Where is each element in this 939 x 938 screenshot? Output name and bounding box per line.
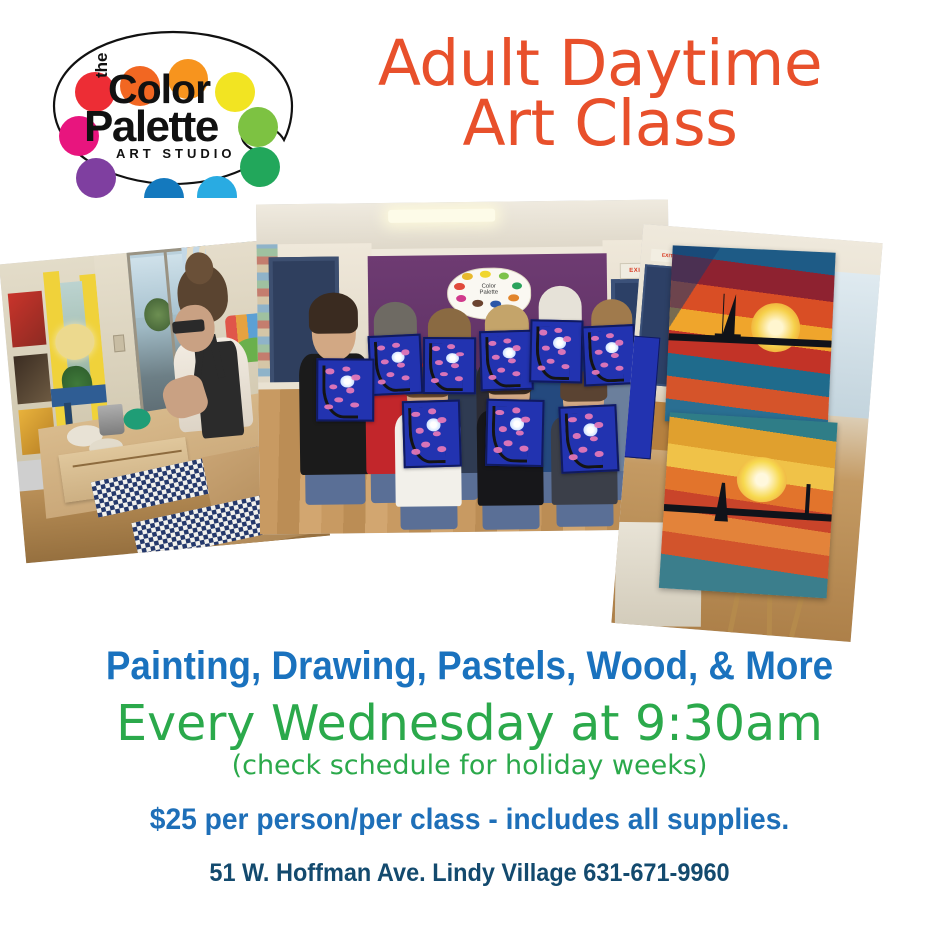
schedule-line: Every Wednesday at 9:30am	[0, 698, 939, 749]
student-canvas-moonlit-blossoms	[582, 324, 638, 387]
sunset-sailboat-painting	[664, 245, 835, 428]
student-canvas-moonlit-blossoms	[558, 404, 619, 473]
the-color-palette-art-studio-logo: the Color Palette ART STUDIO	[36, 26, 311, 198]
student-canvas-moonlit-blossoms	[480, 329, 535, 391]
page-title: Adult Daytime Art Class	[330, 34, 870, 155]
student-canvas-moonlit-blossoms	[368, 334, 424, 397]
photo-group-with-paintings: EXIT Color Palette	[256, 199, 672, 534]
flyer-header: the Color Palette ART STUDIO Adult Dayti…	[0, 0, 939, 200]
student-canvas-moonlit-blossoms	[402, 400, 461, 468]
flyer-canvas: the Color Palette ART STUDIO Adult Dayti…	[0, 0, 939, 938]
photo-collage: EXIT Color Palette	[0, 195, 939, 650]
services-line: Painting, Drawing, Pastels, Wood, & More	[38, 646, 902, 686]
student-canvas-moonlit-blossoms	[529, 319, 584, 384]
title-line-2: Art Class	[330, 94, 870, 154]
student-canvas-moonlit-blossoms	[423, 337, 477, 394]
address-line: 51 W. Hoffman Ave. Lindy Village 631-671…	[28, 861, 911, 886]
student-canvas-moonlit-blossoms	[485, 399, 544, 467]
title-line-1: Adult Daytime	[330, 34, 870, 94]
student-canvas-moonlit-blossoms	[316, 358, 374, 422]
studio-sign-line-2: Palette	[459, 289, 518, 296]
sunset-pier-painting	[659, 412, 838, 598]
photo-sunset-canvases: EXIT	[611, 224, 882, 642]
price-line: $25 per person/per class - includes all …	[28, 805, 911, 835]
schedule-note: (check schedule for holiday weeks)	[0, 751, 939, 781]
flyer-footer: Painting, Drawing, Pastels, Wood, & More…	[0, 646, 939, 938]
